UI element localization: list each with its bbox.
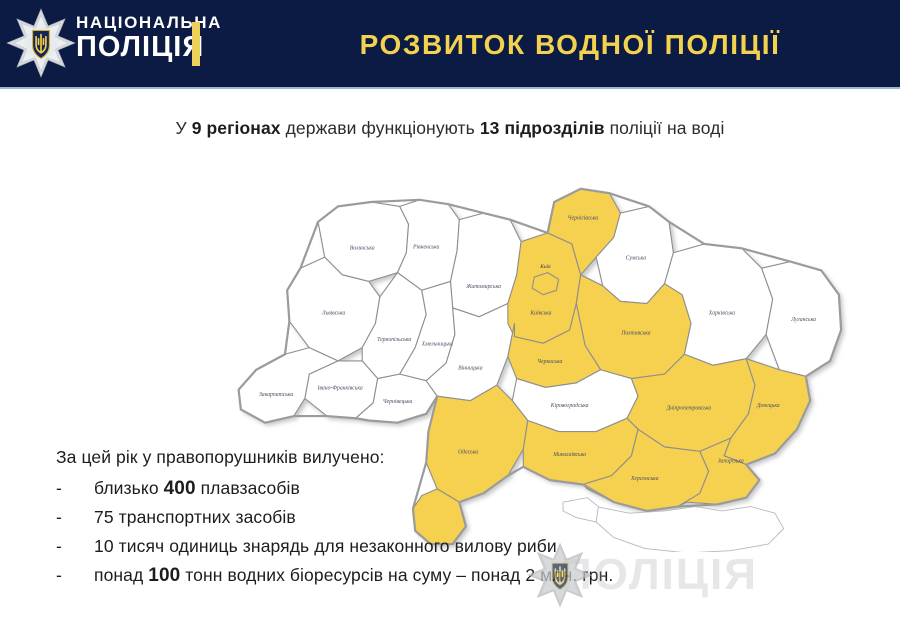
region-label: Волинська <box>350 245 375 251</box>
list-item: - близько 400 плавзасобів <box>56 478 756 500</box>
region-label: Київська <box>529 311 551 317</box>
page-title: РОЗВИТОК ВОДНОЇ ПОЛІЦІЇ <box>240 0 900 89</box>
fact-pre: 10 тисяч одиниць знарядь для незаконного… <box>94 536 557 556</box>
subtitle-bold-2: 13 підрозділів <box>480 118 605 138</box>
fact-number: 400 <box>164 478 196 499</box>
region-label: Закарпатська <box>259 392 293 398</box>
region-label: Вінницька <box>458 366 483 372</box>
list-item-text: 10 тисяч одиниць знарядь для незаконного… <box>94 536 557 558</box>
region-label: Луганська <box>790 317 816 323</box>
region-label: Донецька <box>756 403 780 409</box>
region-label: Чернівецька <box>383 399 413 405</box>
region-label: Львівська <box>321 311 346 317</box>
region-label: Рівненська <box>412 244 439 250</box>
bullet-dash: - <box>56 478 94 499</box>
region-label: Сумська <box>626 255 647 261</box>
region-label: Полтавська <box>620 330 650 336</box>
region-label: Житомирська <box>465 284 501 290</box>
brand-wordmark: НАЦІОНАЛЬНА ПОЛІЦІЯ <box>76 14 222 62</box>
brand-line-1: НАЦІОНАЛЬНА <box>76 14 222 31</box>
region-label: Черкаська <box>537 359 562 365</box>
page-header: НАЦІОНАЛЬНА ПОЛІЦІЯ РОЗВИТОК ВОДНОЇ ПОЛІ… <box>0 0 900 89</box>
fact-pre: близько <box>94 478 164 498</box>
yellow-vertical-bar-icon <box>192 22 200 66</box>
list-item: - 75 транспортних засобів <box>56 507 756 529</box>
police-star-emblem-watermark-icon <box>527 541 593 609</box>
subtitle-part-2: держави функціонують <box>281 118 480 138</box>
city-label-kyiv: Київ <box>539 264 551 270</box>
list-item-text: близько 400 плавзасобів <box>94 478 300 500</box>
fact-post: плавзасобів <box>196 478 300 498</box>
bullet-dash: - <box>56 507 94 528</box>
list-item: - понад 100 тонн водних біоресурсів на с… <box>56 565 756 587</box>
statistics-block: За цей рік у правопорушників вилучено: -… <box>56 447 756 594</box>
fact-pre: 75 транспортних засобів <box>94 507 296 527</box>
subtitle-part-3: поліції на воді <box>605 118 725 138</box>
region-label: Чернігівська <box>568 216 599 222</box>
region-label: Тернопільська <box>377 337 411 343</box>
fact-number: 100 <box>148 565 180 586</box>
region-label: Харківська <box>708 311 736 317</box>
bullet-dash: - <box>56 565 94 586</box>
statistics-heading: За цей рік у правопорушників вилучено: <box>56 447 756 468</box>
region-label: Кіровоградська <box>550 402 589 409</box>
subtitle-part-1: У <box>176 118 192 138</box>
subtitle-bold-1: 9 регіонах <box>192 118 281 138</box>
region-label: Івано-Франківська <box>317 386 363 392</box>
police-star-emblem-icon <box>6 7 76 79</box>
bullet-dash: - <box>56 536 94 557</box>
fact-pre: понад <box>94 565 148 585</box>
region-label: Хмельницька <box>421 341 453 347</box>
subtitle-line: У 9 регіонах держави функціонують 13 під… <box>0 118 900 139</box>
region-label: Дніпропетровська <box>665 405 711 411</box>
list-item-text: 75 транспортних засобів <box>94 507 296 529</box>
brand-line-2: ПОЛІЦІЯ <box>76 33 222 62</box>
list-item: - 10 тисяч одиниць знарядь для незаконно… <box>56 536 756 558</box>
